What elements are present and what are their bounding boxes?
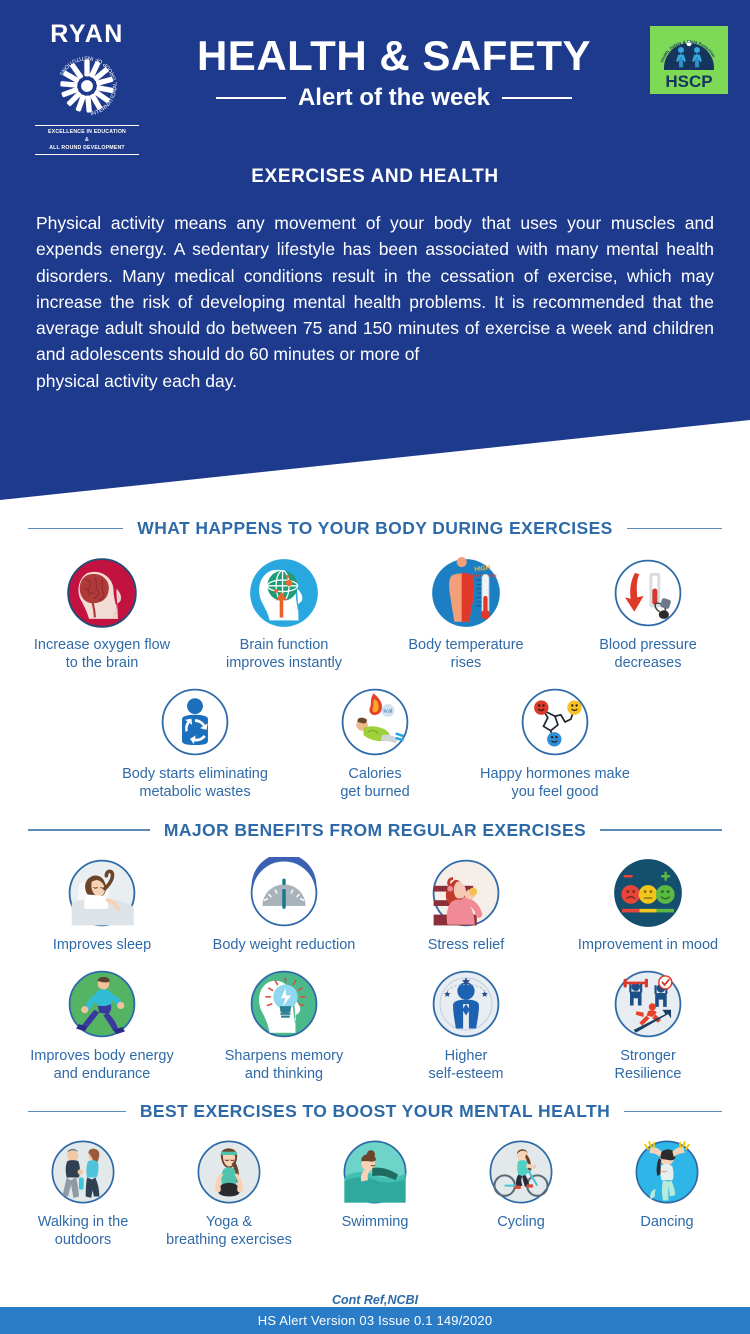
item-cycling[interactable]: Cycling [448,1138,594,1249]
section-3-row-1: Walking in the outdoors Yoga & breathing… [0,1138,750,1249]
metabolic-recycle-icon [159,686,231,758]
section-1-rule-left [28,528,123,530]
section-1-row-1: Increase oxygen flow to the brain [0,557,750,672]
item-body-energy[interactable]: Improves body energy and endurance [11,968,193,1083]
footer-version-bar: HS Alert Version 03 Issue 0.1 149/2020 [0,1307,750,1334]
item-happy-hormones[interactable]: Happy hormones make you feel good [455,686,655,801]
item-swimming[interactable]: Swimming [302,1138,448,1249]
item-caption: Happy hormones make you feel good [480,765,630,801]
header-title-block: HEALTH & SAFETY Alert of the week [152,22,636,112]
thermometer-body-icon: HIGH TEMPERATURE [430,557,502,629]
intro-last-line: physical activity each day. [36,368,714,394]
mood-faces-icon [612,857,684,929]
sleeping-woman-icon [66,857,138,929]
item-caption: Brain function improves instantly [226,636,342,672]
item-sharpens-memory[interactable]: Sharpens memory and thinking [193,968,375,1083]
item-caption: Improvement in mood [578,936,718,954]
runner-icon [66,968,138,1040]
self-esteem-icon [430,968,502,1040]
item-caption: Cycling [497,1213,545,1231]
lightbulb-head-icon [248,968,320,1040]
item-caption: Body temperature rises [408,636,523,672]
item-increase-oxygen-flow[interactable]: Increase oxygen flow to the brain [11,557,193,672]
item-dancing[interactable]: Dancing [594,1138,740,1249]
page-subtitle: Alert of the week [298,84,490,112]
hscp-badge-label: HSCP [665,72,712,90]
item-stress-relief[interactable]: Stress relief [375,857,557,954]
ryan-tagline-line-3: ALL ROUND DEVELOPMENT [35,144,139,152]
item-caption: Stress relief [428,936,505,954]
header-banner: RYAN [0,0,750,500]
topic-heading: EXERCISES AND HEALTH [0,166,750,188]
subtitle-rule-right [502,97,572,99]
ryan-logo-wordmark: RYAN [22,22,152,47]
section-3-rule-left [28,1111,126,1113]
item-caption: Calories get burned [340,765,409,801]
section-2-title: MAJOR BENEFITS FROM REGULAR EXERCISES [164,820,586,841]
resilience-icon [612,968,684,1040]
item-higher-self-esteem[interactable]: Higher self-esteem [375,968,557,1083]
header-topbar: RYAN [0,0,750,140]
ryan-tagline-line-1: EXCELLENCE IN EDUCATION [35,128,139,136]
intro-paragraph: Physical activity means any movement of … [36,210,714,394]
item-body-temperature[interactable]: HIGH TEMPERATURE Body temperature rises [375,557,557,672]
ryan-sunburst-icon: INTERNATIONAL GROUP OF INSTITUTIONS [50,49,124,123]
blood-pressure-icon [612,557,684,629]
item-caption: Dancing [640,1213,693,1231]
section-best-exercises: BEST EXERCISES TO BOOST YOUR MENTAL HEAL… [0,1101,750,1249]
happy-hormones-molecule-icon [519,686,591,758]
subtitle-rule-left [216,97,286,99]
header-subtitle-row: Alert of the week [152,84,636,112]
item-metabolic-wastes[interactable]: Body starts eliminating metabolic wastes [95,686,295,801]
dancing-icon [633,1138,701,1206]
ryan-logo-tagline: EXCELLENCE IN EDUCATION & ALL ROUND DEVE… [35,125,139,155]
item-caption: Blood pressure decreases [599,636,697,672]
item-caption: Improves body energy and endurance [30,1047,173,1083]
section-3-rule-right [624,1111,722,1113]
section-1-row-2: Body starts eliminating metabolic wastes… [0,686,750,801]
footer: Cont Ref,NCBI HS Alert Version 03 Issue … [0,1293,750,1334]
item-caption: Sharpens memory and thinking [225,1047,343,1083]
item-brain-function[interactable]: Brain function improves instantly [193,557,375,672]
item-improvement-in-mood[interactable]: Improvement in mood [557,857,739,954]
intro-paragraph-text: Physical activity means any movement of … [36,213,714,364]
item-caption: Improves sleep [53,936,151,954]
item-blood-pressure[interactable]: Blood pressure decreases [557,557,739,672]
section-2-row-2: Improves body energy and endurance [0,968,750,1083]
section-body-during-exercises: WHAT HAPPENS TO YOUR BODY DURING EXERCIS… [0,518,750,802]
swimming-icon [341,1138,409,1206]
brain-oxygen-icon [66,557,138,629]
hscp-badge: Health, Safety & Child Protection HSCP [636,22,728,94]
item-improves-sleep[interactable]: Improves sleep [11,857,193,954]
item-walking[interactable]: Walking in the outdoors [10,1138,156,1249]
yoga-icon [195,1138,263,1206]
ryan-logo: RYAN [22,22,152,155]
item-caption: Stronger Resilience [615,1047,682,1083]
section-2-row-1: Improves sleep Body weight re [0,857,750,954]
section-1-title-row: WHAT HAPPENS TO YOUR BODY DURING EXERCIS… [28,518,722,539]
section-1-title: WHAT HAPPENS TO YOUR BODY DURING EXERCIS… [137,518,612,539]
section-3-title-row: BEST EXERCISES TO BOOST YOUR MENTAL HEAL… [28,1101,722,1122]
svg-text:kcal: kcal [383,709,392,715]
item-caption: Body starts eliminating metabolic wastes [122,765,268,801]
section-2-title-row: MAJOR BENEFITS FROM REGULAR EXERCISES [28,820,722,841]
section-1-rule-right [627,528,722,530]
section-2-rule-right [600,829,722,831]
section-major-benefits: MAJOR BENEFITS FROM REGULAR EXERCISES Im… [0,820,750,1083]
item-caption: Higher self-esteem [429,1047,504,1083]
item-weight-reduction[interactable]: Body weight reduction [193,857,375,954]
item-calories-burned[interactable]: kcal Calories get burned [295,686,455,801]
item-caption: Increase oxygen flow to the brain [34,636,170,672]
item-caption: Walking in the outdoors [38,1213,129,1249]
walking-icon [49,1138,117,1206]
hscp-arch-icon: Health, Safety & Child Protection HSCP [656,28,722,90]
weight-scale-icon [248,857,320,929]
calories-flame-icon: kcal [339,686,411,758]
section-3-title: BEST EXERCISES TO BOOST YOUR MENTAL HEAL… [140,1101,610,1122]
stress-relief-icon [430,857,502,929]
footer-reference: Cont Ref,NCBI [0,1293,750,1307]
item-caption: Body weight reduction [213,936,356,954]
item-stronger-resilience[interactable]: Stronger Resilience [557,968,739,1083]
page-title: HEALTH & SAFETY [152,34,636,78]
section-2-rule-left [28,829,150,831]
item-yoga[interactable]: Yoga & breathing exercises [156,1138,302,1249]
item-caption: Swimming [342,1213,409,1231]
cycling-icon [487,1138,555,1206]
hscp-badge-box: Health, Safety & Child Protection HSCP [650,26,728,94]
head-globe-icon [248,557,320,629]
ryan-tagline-line-2: & [35,136,139,144]
item-caption: Yoga & breathing exercises [166,1213,292,1249]
